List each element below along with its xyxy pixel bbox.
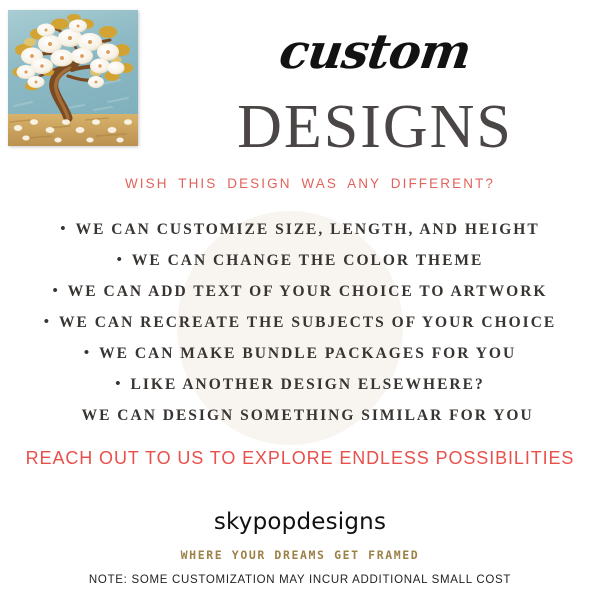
list-item-label: WE CAN CHANGE THE COLOR THEME — [132, 252, 484, 269]
list-item: •WE CAN RECREATE THE SUBJECTS OF YOUR CH… — [0, 307, 600, 338]
page-title-script: custom — [147, 28, 600, 76]
list-item-label: WE CAN DESIGN SOMETHING SIMILAR FOR YOU — [82, 407, 534, 424]
bullet-icon: • — [84, 345, 91, 361]
list-item: •WE CAN CUSTOMIZE SIZE, LENGTH, AND HEIG… — [0, 214, 600, 245]
benefits-list: •WE CAN CUSTOMIZE SIZE, LENGTH, AND HEIG… — [0, 214, 600, 431]
bullet-icon: • — [60, 221, 67, 237]
brand-tagline: WHERE YOUR DREAMS GET FRAMED — [0, 548, 600, 562]
bullet-icon: • — [53, 283, 60, 299]
blossom-tree-artwork-image[interactable] — [8, 10, 138, 146]
page-title: DESIGNS — [150, 96, 600, 158]
list-item-continuation: •WE CAN DESIGN SOMETHING SIMILAR FOR YOU — [0, 400, 600, 431]
list-item: •LIKE ANOTHER DESIGN ELSEWHERE? — [0, 369, 600, 400]
list-item: •WE CAN MAKE BUNDLE PACKAGES FOR YOU — [0, 338, 600, 369]
list-item-label: LIKE ANOTHER DESIGN ELSEWHERE? — [131, 376, 485, 393]
list-item: •WE CAN ADD TEXT OF YOUR CHOICE TO ARTWO… — [0, 276, 600, 307]
call-to-action-text[interactable]: REACH OUT TO US TO EXPLORE ENDLESS POSSI… — [0, 448, 600, 469]
bullet-icon: • — [44, 314, 51, 330]
list-item-label: WE CAN ADD TEXT OF YOUR CHOICE TO ARTWOR… — [68, 283, 548, 300]
list-item-label: WE CAN CUSTOMIZE SIZE, LENGTH, AND HEIGH… — [76, 221, 540, 238]
list-item: •WE CAN CHANGE THE COLOR THEME — [0, 245, 600, 276]
list-item-label: WE CAN RECREATE THE SUBJECTS OF YOUR CHO… — [59, 314, 556, 331]
subheading: WISH THIS DESIGN WAS ANY DIFFERENT? — [100, 176, 520, 191]
bullet-icon: • — [115, 376, 122, 392]
bullet-icon: • — [117, 252, 124, 268]
blossom-tree-illustration — [8, 10, 138, 146]
brand-name[interactable]: skypopdesigns — [0, 509, 600, 535]
list-item-label: WE CAN MAKE BUNDLE PACKAGES FOR YOU — [99, 345, 516, 362]
footnote-disclaimer: NOTE: SOME CUSTOMIZATION MAY INCUR ADDIT… — [0, 574, 600, 586]
custom-designs-poster: custom DESIGNS WISH THIS DESIGN WAS ANY … — [0, 0, 600, 600]
